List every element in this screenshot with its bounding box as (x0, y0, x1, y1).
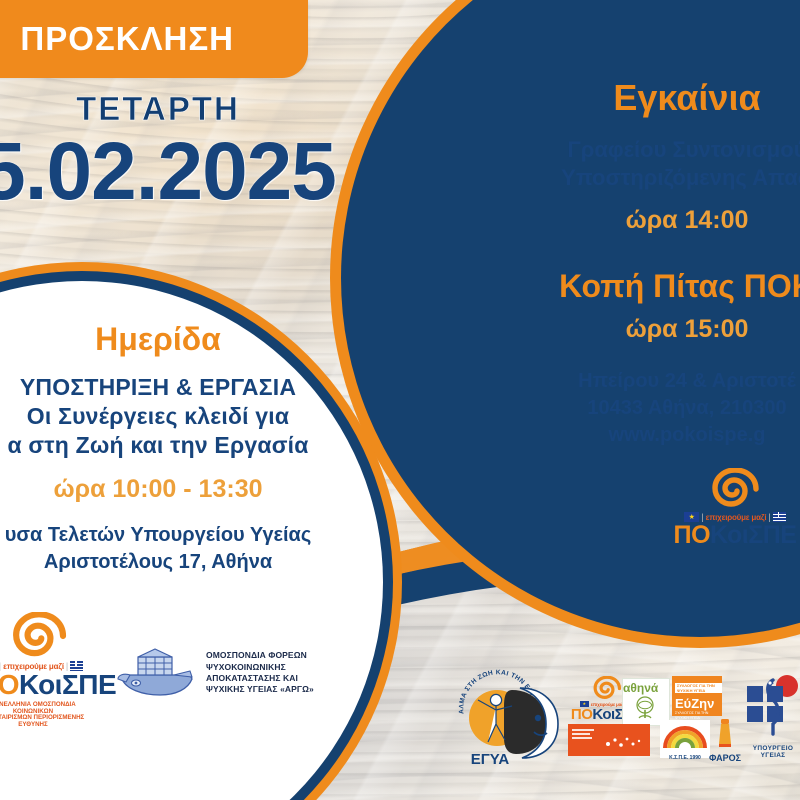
left-event-line2: Οι Συνέργειες κλειδί για (0, 402, 388, 431)
event-date: ΤΕΤΑΡΤΗ 5.02.2025 (0, 92, 388, 215)
right-event-subtitle: Γραφείου Συντονισμού Υποστηριζόμενης Απα… (452, 136, 800, 193)
greek-flag-icon (773, 512, 786, 522)
ministry-of-health-logo: ΥΠΟΥΡΓΕΙΟ ΥΓΕΙΑΣ (742, 672, 800, 764)
right-event-title: Εγκαίνια (452, 78, 800, 118)
orange-partner-logo (568, 724, 650, 756)
euzin-inner: ΣΥΛΛΟΓΟΣ ΓΙΑ ΤΗΝ ΨΥΧΙΚΗ ΥΓΕΙΑ ΕύΖην ΣΥΛΛ… (672, 676, 722, 720)
pokoispe-footer-line1: ΠΑΝΕΛΛΗΝΙΑ ΟΜΟΣΠΟΝΔΙΑ ΚΟΙΝΩΝΙΚΩΝ (0, 702, 88, 715)
greek-flag-icon (70, 661, 83, 671)
right-event-address: Ηπείρου 24 & Αριστοτέ 10433 Αθήνα, 21030… (452, 368, 800, 448)
right-event-address-line1: Ηπείρου 24 & Αριστοτέ (452, 368, 800, 395)
pokoispe-spiral-icon (8, 612, 70, 660)
right-event-title-2: Κοπή Πίτας ΠΟΚ (452, 269, 800, 304)
pokoispe-wordmark: ΠΟΚοιΣΠΕ (660, 521, 800, 550)
invitation-banner: ΠΡΟΣΚΛΗΣΗ (0, 0, 308, 78)
left-event-time: ώρα 10:00 - 13:30 (0, 474, 388, 504)
athina-logo: αθηνά (622, 678, 670, 726)
pokoispe-word-koispe: ΚοιΣΠΕ (19, 669, 116, 700)
left-event-line1: ΥΠΟΣΤΗΡΙΞΗ & ΕΡΓΑΣΙΑ (0, 373, 388, 402)
argo-line2: ΨΥΧΟΚΟΙΝΩΝΙΚΗΣ (206, 662, 314, 673)
argo-ship-icon (112, 645, 198, 701)
pokoispe-word-koispe: ΚοιΣΠΕ (710, 521, 796, 549)
left-event-text: Ημερίδα ΥΠΟΣΤΗΡΙΞΗ & ΕΡΓΑΣΙΑ Οι Συνέργει… (0, 322, 388, 576)
left-event-venue: υσα Τελετών Υπουργείου Υγείας (0, 522, 388, 549)
date-value: 5.02.2025 (0, 129, 388, 215)
pokoispe-word-po: ΠΟ (674, 521, 711, 549)
pokoispe-wordmark: ΠΟΚοιΣΠΕ (0, 669, 88, 701)
argo-line1: ΟΜΟΣΠΟΝΔΙΑ ΦΟΡΕΩΝ (206, 650, 314, 661)
left-event-address-line: Αριστοτέλους 17, Αθήνα (0, 549, 388, 576)
pokoispe-logo-bottom: ★ | επιχειρούμε μαζί | ΠΟΚοιΣΠΕ ΠΑΝΕΛΛΗΝ… (0, 612, 88, 729)
argo-line3: ΑΠΟΚΑΤΑΣΤΑΣΗΣ ΚΑΙ (206, 673, 314, 684)
pokoispe-word-po: ΠΟ (571, 706, 593, 723)
pokoispe-spiral-icon (708, 468, 762, 510)
ministry-label: ΥΠΟΥΡΓΕΙΟ ΥΓΕΙΑΣ (742, 745, 800, 759)
athina-tree-icon (623, 694, 667, 722)
left-event-address: υσα Τελετών Υπουργείου Υγείας Αριστοτέλο… (0, 522, 388, 576)
right-event-address-line2: 10433 Αθήνα, 210300 (452, 395, 800, 422)
pokoispe-spiral-icon (591, 676, 623, 701)
pokoispe-word-po: ΠΟ (0, 669, 19, 700)
left-event-title: Ημερίδα (0, 322, 388, 357)
right-event-text: Εγκαίνια Γραφείου Συντονισμού Υποστηριζό… (452, 78, 800, 448)
left-event-line3: α στη Ζωή και την Εργασία (0, 431, 388, 460)
banner-label: ΠΡΟΣΚΛΗΣΗ (20, 20, 308, 58)
right-event-subtitle-line2: Υποστηριζόμενης Απασ (452, 164, 800, 193)
athina-line1: αθηνά (623, 679, 669, 694)
euzin-label: ΕύΖην (675, 697, 722, 711)
right-event-subtitle-line1: Γραφείου Συντονισμού (452, 136, 800, 165)
euzin-logo: ΣΥΛΛΟΓΟΣ ΓΙΑ ΤΗΝ ΨΥΧΙΚΗ ΥΓΕΙΑ ΕύΖην ΣΥΛΛ… (672, 676, 722, 716)
egya-label: ΕΓΥΑ (471, 751, 510, 768)
ministry-cross-icon (743, 672, 800, 744)
lighthouse-icon (710, 716, 740, 748)
euzin-tag: ΣΥΛΛΟΓΟΣ ΓΙΑ ΤΗΝ ΨΥΧΙΚΗ ΥΓΕΙΑ (675, 683, 722, 693)
pokoispe-logo-right: ★ | επιχειρούμε μαζί | ΠΟΚοιΣΠΕ (660, 468, 800, 550)
argo-logo: ΟΜΟΣΠΟΝΔΙΑ ΦΟΡΕΩΝ ΨΥΧΟΚΟΙΝΩΝΙΚΗΣ ΑΠΟΚΑΤΑ… (112, 645, 322, 701)
argo-line4: ΨΥΧΙΚΗΣ ΥΓΕΙΑΣ «ΑΡΓΩ» (206, 684, 314, 695)
right-event-website[interactable]: www.pokoispe.g (452, 422, 800, 449)
orange-partner-icon (568, 724, 650, 756)
egya-logo: ΑΛΜΑ ΣΤΗ ΖΩΗ ΚΑΙ ΤΗΝ ΕΡΓΑΣΙΑ ΕΓΥΑ (450, 662, 570, 772)
pokoispe-footer-line2: ΣΥΝΕΤΑΙΡΙΣΜΩΝ ΠΕΡΙΟΡΙΣΜΕΝΗΣ ΕΥΘΥΝΗΣ (0, 715, 88, 728)
right-event-time-1: ώρα 14:00 (452, 205, 800, 235)
invitation-poster: ΠΡΟΣΚΛΗΣΗ ΤΕΤΑΡΤΗ 5.02.2025 Εγκαίνια Γρα… (0, 0, 800, 800)
date-weekday: ΤΕΤΑΡΤΗ (0, 92, 388, 125)
argo-text: ΟΜΟΣΠΟΝΔΙΑ ΦΟΡΕΩΝ ΨΥΧΟΚΟΙΝΩΝΙΚΗΣ ΑΠΟΚΑΤΑ… (206, 650, 314, 696)
right-event-time-2: ώρα 15:00 (452, 314, 800, 344)
egya-figure-icon: ΑΛΜΑ ΣΤΗ ΖΩΗ ΚΑΙ ΤΗΝ ΕΡΓΑΣΙΑ ΕΓΥΑ (450, 662, 570, 772)
